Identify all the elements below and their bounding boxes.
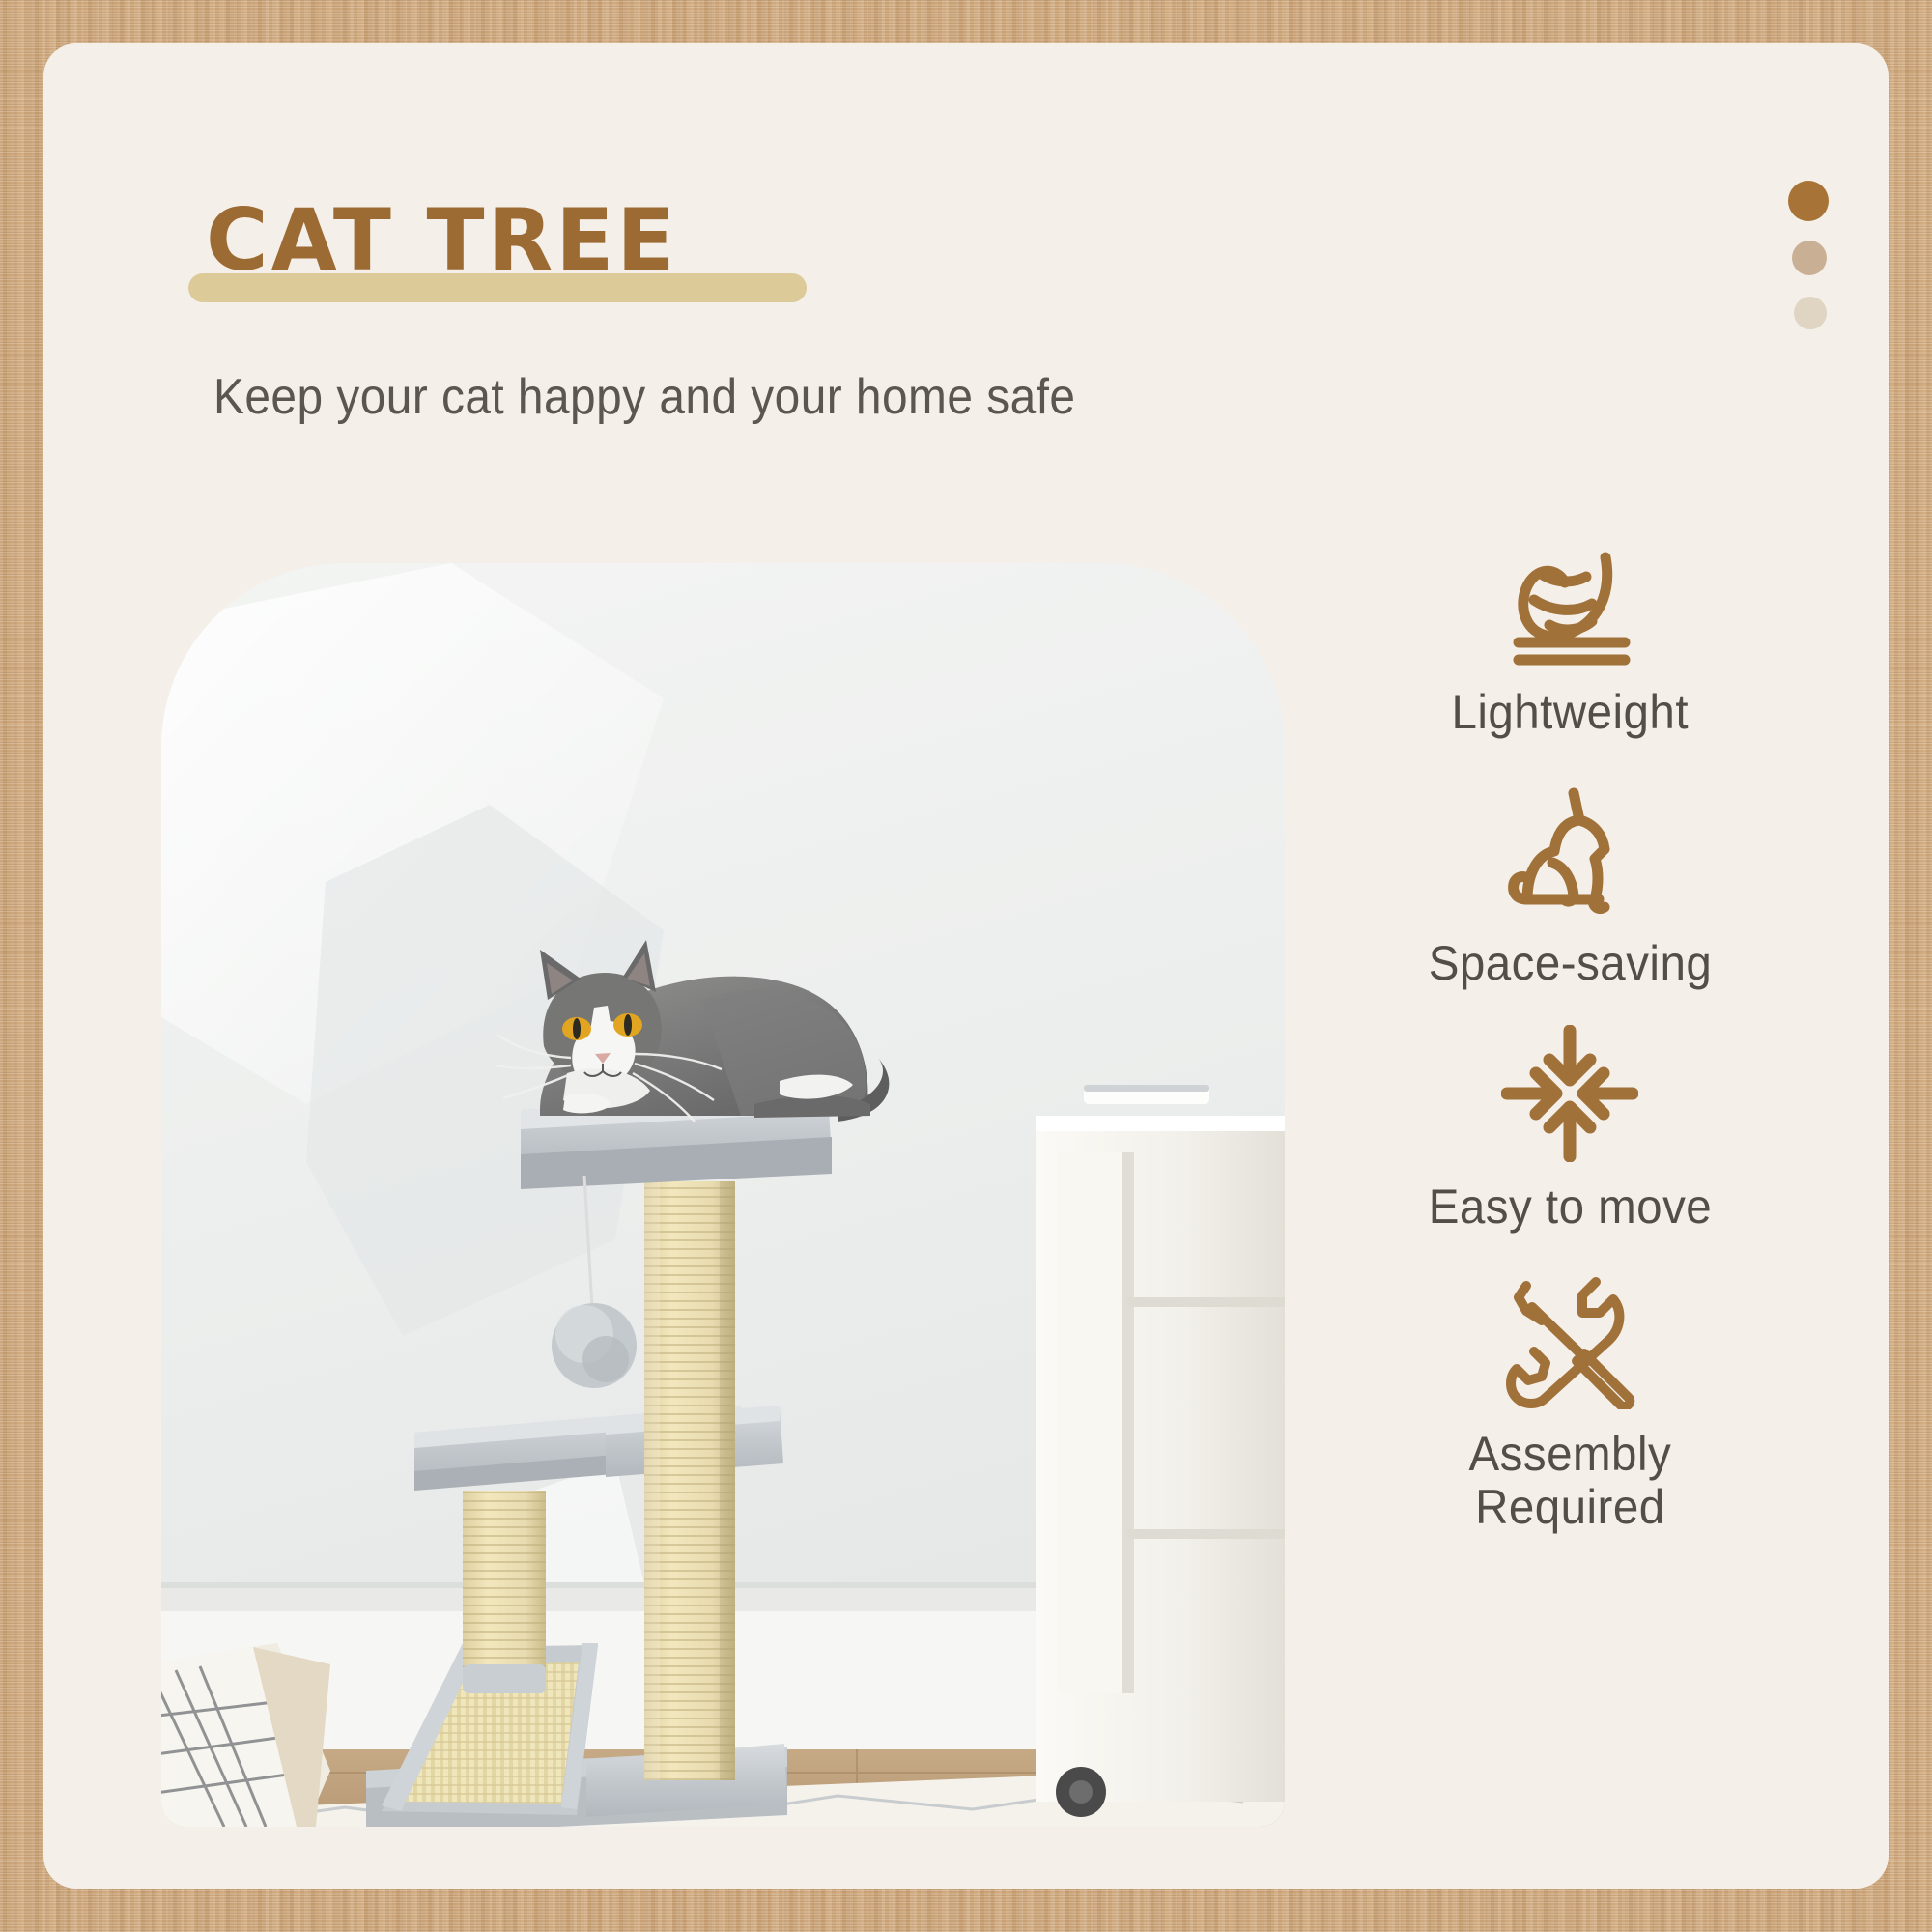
feature-label: Lightweight [1451, 686, 1689, 739]
decorative-dot-dark [1788, 181, 1829, 221]
converging-arrows-icon [1501, 1025, 1638, 1167]
feature-label: Assembly Required [1468, 1428, 1671, 1534]
feather-icon [1497, 546, 1642, 672]
feature-list: Lightweight Space-saving [1299, 546, 1840, 1569]
wrench-screwdriver-icon [1499, 1268, 1640, 1414]
poster-frame: CAT TREE Keep your cat happy and your ho… [0, 0, 1932, 1932]
page-subtitle: Keep your cat happy and your home safe [213, 368, 1075, 426]
feature-item-space-saving: Space-saving [1299, 774, 1840, 990]
page-title: CAT TREE [206, 198, 678, 283]
feature-item-easy-to-move: Easy to move [1299, 1025, 1840, 1234]
content-card: CAT TREE Keep your cat happy and your ho… [43, 43, 1889, 1889]
sitting-cat-icon [1498, 774, 1641, 923]
decorative-dot-medium [1792, 241, 1827, 275]
title-block: CAT TREE [206, 198, 678, 283]
feature-label: Space-saving [1428, 937, 1712, 990]
decorative-dot-light [1794, 297, 1827, 329]
feature-label: Easy to move [1428, 1180, 1711, 1234]
feature-item-assembly-required: Assembly Required [1299, 1268, 1840, 1534]
product-photo-illustration [161, 563, 1285, 1827]
feature-item-lightweight: Lightweight [1299, 546, 1840, 739]
product-photo [161, 563, 1285, 1827]
